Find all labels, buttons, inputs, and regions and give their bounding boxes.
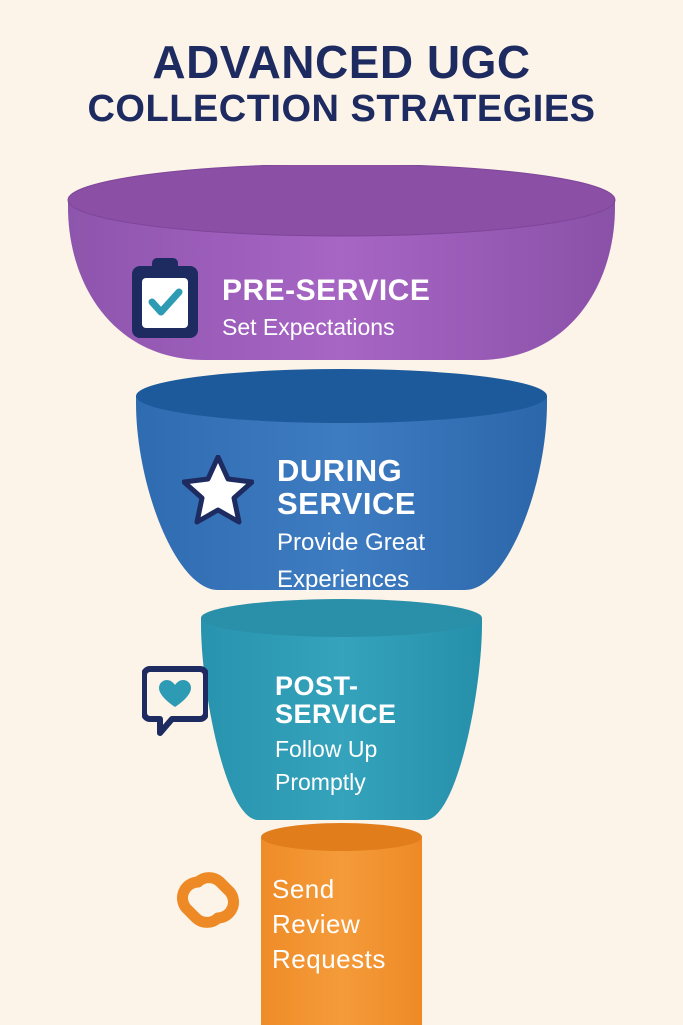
stage-send-review-requests-title-line2: Review [272,907,386,942]
stage-pre-service-title: PRE-SERVICE [222,275,430,307]
stage-post-service-subtitle-line1: Follow Up [275,737,397,763]
link-icon [168,862,248,943]
stage-post-service-subtitle-line2: Promptly [275,770,397,796]
stage-during-service-text: DURING SERVICE Provide Great Experiences [277,455,425,594]
star-icon [182,455,254,530]
stage-pre-service-text: PRE-SERVICE Set Expectations [222,275,430,340]
title-line-1: ADVANCED UGC [0,38,683,86]
stage-post-service-title-line2: SERVICE [275,700,397,728]
title-line-2: COLLECTION STRATEGIES [0,86,683,134]
stage-send-review-requests-text: Send Review Requests [272,872,386,977]
stage-post-service-title-line1: POST- [275,672,397,700]
page-title: ADVANCED UGC COLLECTION STRATEGIES [0,38,683,134]
stage-post-service-text: POST- SERVICE Follow Up Promptly [275,672,397,796]
clipboard-check-icon [128,256,202,347]
stage-send-review-requests-title-line3: Requests [272,942,386,977]
stage-during-service-subtitle-line1: Provide Great [277,530,425,557]
stage-send-review-requests-title-line1: Send [272,872,386,907]
stage-pre-service-subtitle: Set Expectations [222,315,430,341]
stage-during-service-title-line2: SERVICE [277,488,425,521]
stage-during-service-subtitle-line2: Experiences [277,567,425,594]
chat-heart-icon [142,665,208,742]
stage-during-service-title-line1: DURING [277,455,425,488]
